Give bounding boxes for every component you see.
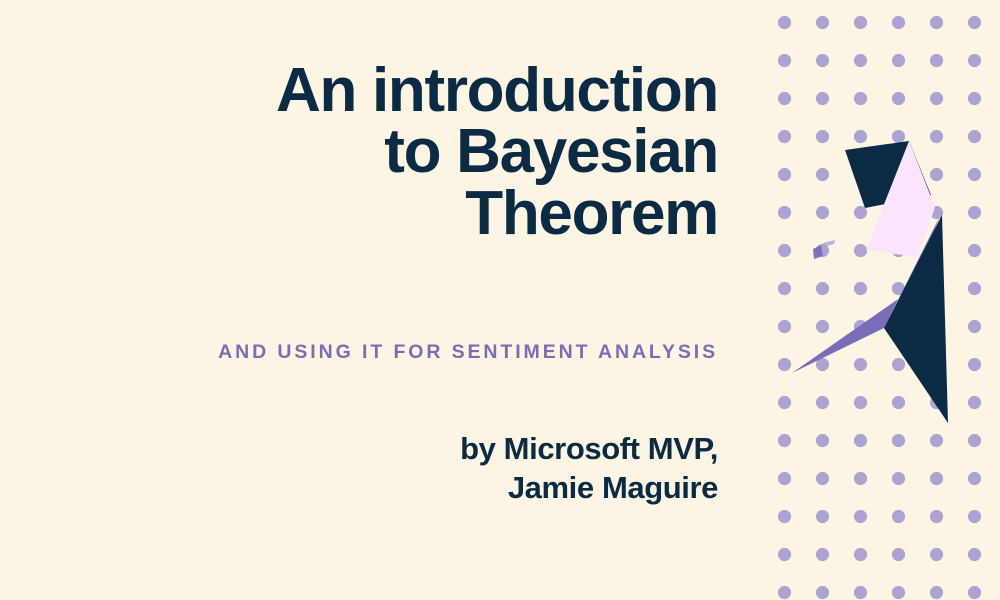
- slide-canvas: An introduction to Bayesian Theorem AND …: [0, 0, 1000, 600]
- title-line-2: to Bayesian: [98, 121, 718, 182]
- text-column: An introduction to Bayesian Theorem AND …: [0, 0, 765, 600]
- abstract-origami-bird-icon: [765, 0, 1000, 600]
- page-title: An introduction to Bayesian Theorem: [98, 60, 718, 244]
- subtitle: AND USING IT FOR SENTIMENT ANALYSIS: [78, 341, 718, 364]
- decorative-panel: [765, 0, 1000, 600]
- author-byline: by Microsoft MVP, Jamie Maguire: [98, 430, 718, 508]
- byline-line-1: by Microsoft MVP,: [98, 430, 718, 469]
- byline-line-2: Jamie Maguire: [98, 469, 718, 508]
- title-line-1: An introduction: [98, 60, 718, 121]
- title-line-3: Theorem: [98, 183, 718, 244]
